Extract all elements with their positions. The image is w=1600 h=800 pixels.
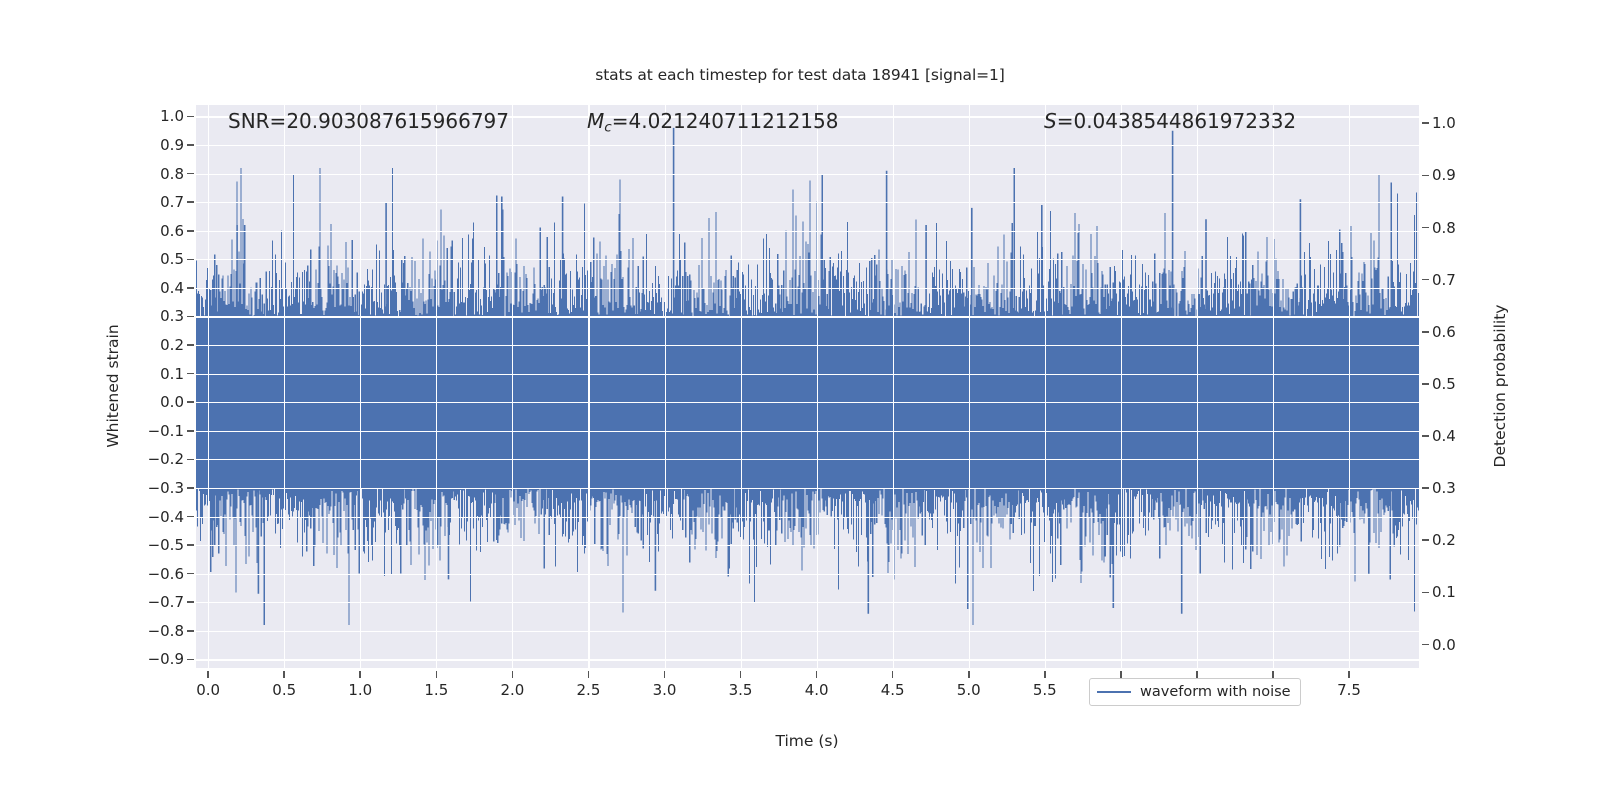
gridline-horizontal <box>196 602 1419 603</box>
y-tick-mark-left <box>187 116 194 118</box>
gridline-horizontal <box>196 631 1419 632</box>
y-tick-mark-left <box>187 544 194 546</box>
y-tick-mark-left <box>187 516 194 518</box>
waveform-noise-series <box>196 105 1419 668</box>
x-tick-label: 5.5 <box>1015 681 1075 699</box>
y-tick-mark-left <box>187 144 194 146</box>
y-tick-label-right: 0.9 <box>1432 166 1492 184</box>
x-axis-label: Time (s) <box>775 732 838 750</box>
annotation-snr: SNR=20.903087615966797 <box>228 109 509 133</box>
gridline-vertical <box>284 105 285 668</box>
annotation-mc-symbol: M <box>587 109 604 133</box>
x-tick-label: 4.5 <box>863 681 923 699</box>
y-tick-label-right: 0.6 <box>1432 323 1492 341</box>
x-tick-label: 1.5 <box>406 681 466 699</box>
y-tick-label-left: −0.9 <box>124 650 184 668</box>
y-tick-mark-left <box>187 630 194 632</box>
y-tick-label-left: 0.8 <box>124 165 184 183</box>
gridline-horizontal <box>196 402 1419 403</box>
y-tick-label-left: −0.6 <box>124 565 184 583</box>
gridline-vertical <box>665 105 666 668</box>
y-tick-label-left: 0.1 <box>124 365 184 383</box>
x-tick-mark <box>816 671 818 678</box>
y-tick-mark-left <box>187 573 194 575</box>
annotation-snr-value: 20.903087615966797 <box>286 109 509 133</box>
gridline-vertical <box>436 105 437 668</box>
y-tick-mark-left <box>187 259 194 261</box>
y-tick-label-left: 0.7 <box>124 193 184 211</box>
y-tick-mark-left <box>187 344 194 346</box>
y-tick-label-right: 0.3 <box>1432 479 1492 497</box>
gridline-vertical <box>1197 105 1198 668</box>
y-tick-label-left: 0.0 <box>124 393 184 411</box>
y-tick-label-right: 0.5 <box>1432 375 1492 393</box>
figure-canvas: stats at each timestep for test data 189… <box>0 0 1600 800</box>
gridline-horizontal <box>196 202 1419 203</box>
y-tick-label-left: −0.5 <box>124 536 184 554</box>
y-tick-mark-left <box>187 487 194 489</box>
y-axis-label-right: Detection probability <box>1491 305 1509 468</box>
y-tick-label-right: 0.8 <box>1432 219 1492 237</box>
y-tick-mark-right <box>1422 279 1429 281</box>
gridline-horizontal <box>196 431 1419 432</box>
legend-line-swatch <box>1097 691 1131 693</box>
y-tick-mark-left <box>187 601 194 603</box>
gridline-vertical <box>1349 105 1350 668</box>
annotation-mc-label: = <box>612 109 629 133</box>
x-tick-mark <box>1348 671 1350 678</box>
gridline-vertical <box>1045 105 1046 668</box>
gridline-horizontal <box>196 659 1419 660</box>
gridline-horizontal <box>196 174 1419 175</box>
x-tick-mark <box>1044 671 1046 678</box>
gridline-horizontal <box>196 374 1419 375</box>
gridline-vertical <box>588 105 589 668</box>
y-tick-mark-left <box>187 659 194 661</box>
plot-area: SNR=20.903087615966797 Mc=4.021240711212… <box>196 105 1419 668</box>
gridline-horizontal <box>196 574 1419 575</box>
y-tick-mark-right <box>1422 122 1429 124</box>
gridline-vertical <box>360 105 361 668</box>
gridline-horizontal <box>196 288 1419 289</box>
y-tick-label-left: 0.3 <box>124 307 184 325</box>
x-tick-label: 2.0 <box>482 681 542 699</box>
y-tick-label-right: 0.2 <box>1432 531 1492 549</box>
gridline-horizontal <box>196 316 1419 317</box>
gridline-horizontal <box>196 488 1419 489</box>
y-tick-mark-right <box>1422 227 1429 229</box>
y-tick-mark-right <box>1422 592 1429 594</box>
x-tick-mark <box>359 671 361 678</box>
legend[interactable]: waveform with noise <box>1089 678 1301 706</box>
x-tick-label: 3.0 <box>635 681 695 699</box>
gridline-horizontal <box>196 259 1419 260</box>
y-tick-mark-left <box>187 316 194 318</box>
gridline-horizontal <box>196 345 1419 346</box>
gridline-vertical <box>1121 105 1122 668</box>
gridline-vertical <box>1273 105 1274 668</box>
y-tick-mark-left <box>187 459 194 461</box>
y-tick-label-left: 0.2 <box>124 336 184 354</box>
y-tick-mark-left <box>187 201 194 203</box>
x-tick-label: 1.0 <box>330 681 390 699</box>
gridline-vertical <box>512 105 513 668</box>
x-tick-mark <box>512 671 514 678</box>
y-tick-mark-right <box>1422 435 1429 437</box>
legend-label-waveform: waveform with noise <box>1140 684 1291 700</box>
y-tick-mark-left <box>187 173 194 175</box>
y-tick-label-left: 0.6 <box>124 222 184 240</box>
y-tick-mark-right <box>1422 383 1429 385</box>
y-tick-mark-right <box>1422 644 1429 646</box>
x-tick-mark <box>283 671 285 678</box>
y-tick-label-right: 0.4 <box>1432 427 1492 445</box>
y-tick-mark-left <box>187 230 194 232</box>
y-tick-label-left: −0.8 <box>124 622 184 640</box>
annotation-s: S=0.0438544861972332 <box>1044 109 1296 133</box>
y-tick-mark-left <box>187 373 194 375</box>
noise-trace-path <box>197 168 1419 625</box>
chart-title: stats at each timestep for test data 189… <box>0 66 1600 84</box>
y-tick-label-left: 0.9 <box>124 136 184 154</box>
gridline-vertical <box>817 105 818 668</box>
annotation-s-label: = <box>1057 109 1074 133</box>
y-tick-label-left: −0.1 <box>124 422 184 440</box>
x-tick-mark <box>588 671 590 678</box>
gridline-horizontal <box>196 145 1419 146</box>
y-tick-label-left: −0.7 <box>124 593 184 611</box>
x-tick-label: 0.5 <box>254 681 314 699</box>
x-tick-mark <box>968 671 970 678</box>
x-tick-label: 0.0 <box>178 681 238 699</box>
x-tick-mark <box>740 671 742 678</box>
y-tick-label-left: −0.3 <box>124 479 184 497</box>
gridline-horizontal <box>196 545 1419 546</box>
x-tick-label: 2.5 <box>558 681 618 699</box>
y-tick-mark-right <box>1422 539 1429 541</box>
gridline-vertical <box>741 105 742 668</box>
y-axis-label-left: Whitened strain <box>104 324 122 447</box>
x-tick-label: 7.5 <box>1319 681 1379 699</box>
annotation-s-symbol: S <box>1044 109 1057 133</box>
gridline-horizontal <box>196 517 1419 518</box>
y-tick-mark-left <box>187 430 194 432</box>
x-tick-mark <box>664 671 666 678</box>
gridline-horizontal <box>196 231 1419 232</box>
y-tick-label-left: −0.4 <box>124 508 184 526</box>
x-tick-mark <box>1196 671 1198 678</box>
y-tick-mark-right <box>1422 331 1429 333</box>
y-tick-mark-left <box>187 287 194 289</box>
annotation-snr-label: SNR= <box>228 109 286 133</box>
y-tick-mark-right <box>1422 175 1429 177</box>
y-tick-label-right: 0.0 <box>1432 636 1492 654</box>
y-tick-label-left: −0.2 <box>124 450 184 468</box>
y-tick-mark-left <box>187 401 194 403</box>
y-tick-mark-right <box>1422 487 1429 489</box>
x-tick-mark <box>1272 671 1274 678</box>
gridline-horizontal <box>196 459 1419 460</box>
y-tick-label-left: 1.0 <box>124 107 184 125</box>
y-tick-label-right: 0.1 <box>1432 583 1492 601</box>
x-tick-mark <box>436 671 438 678</box>
y-tick-label-right: 1.0 <box>1432 114 1492 132</box>
x-tick-mark <box>1120 671 1122 678</box>
gridline-vertical <box>893 105 894 668</box>
y-tick-label-right: 0.7 <box>1432 271 1492 289</box>
x-tick-label: 4.0 <box>787 681 847 699</box>
y-tick-label-left: 0.4 <box>124 279 184 297</box>
x-tick-mark <box>892 671 894 678</box>
annotation-s-value: 0.0438544861972332 <box>1073 109 1296 133</box>
annotation-mc-value: 4.021240711212158 <box>629 109 839 133</box>
annotation-mc-subscript: c <box>604 119 611 135</box>
x-tick-label: 5.0 <box>939 681 999 699</box>
gridline-vertical <box>208 105 209 668</box>
gridline-vertical <box>969 105 970 668</box>
y-tick-label-left: 0.5 <box>124 250 184 268</box>
annotation-chirp-mass: Mc=4.021240711212158 <box>587 109 838 135</box>
x-tick-mark <box>207 671 209 678</box>
x-tick-label: 3.5 <box>711 681 771 699</box>
